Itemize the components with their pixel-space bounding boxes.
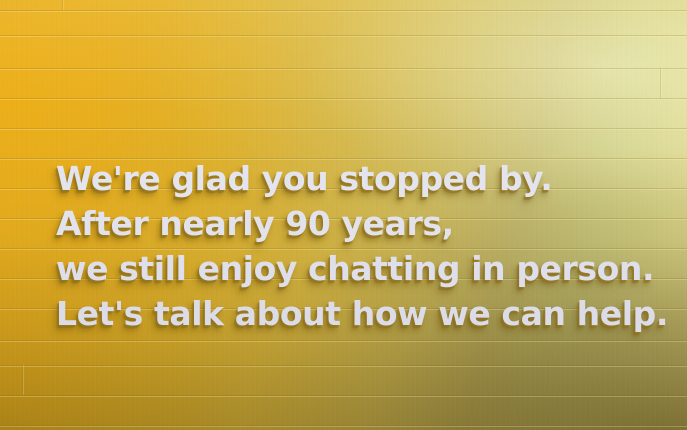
sign-line-4: Let's talk about how we can help. [56,291,676,336]
wall-seam-horizontal-0 [0,10,687,12]
wall-seam-horizontal-11 [0,340,687,342]
wall-seam-vertical-2 [22,365,24,395]
sign-line-1: We're glad you stopped by. [56,156,676,201]
wall-seam-horizontal-3 [0,98,687,100]
wall-seam-horizontal-4 [0,128,687,130]
wall-seam-horizontal-2 [0,68,687,70]
wall-seam-horizontal-12 [0,365,687,367]
wall-seam-horizontal-1 [0,35,687,37]
wall-seam-horizontal-14 [0,425,687,427]
sign-line-3: we still enjoy chatting in person. [56,246,676,291]
wall-seam-vertical-1 [660,68,662,98]
wall-sign-text-block: We're glad you stopped by. After nearly … [56,156,676,336]
wall-seam-horizontal-13 [0,395,687,397]
sign-line-2: After nearly 90 years, [56,201,676,246]
wall-signage-photo: We're glad you stopped by. After nearly … [0,0,687,430]
wall-seam-vertical-0 [62,0,64,10]
